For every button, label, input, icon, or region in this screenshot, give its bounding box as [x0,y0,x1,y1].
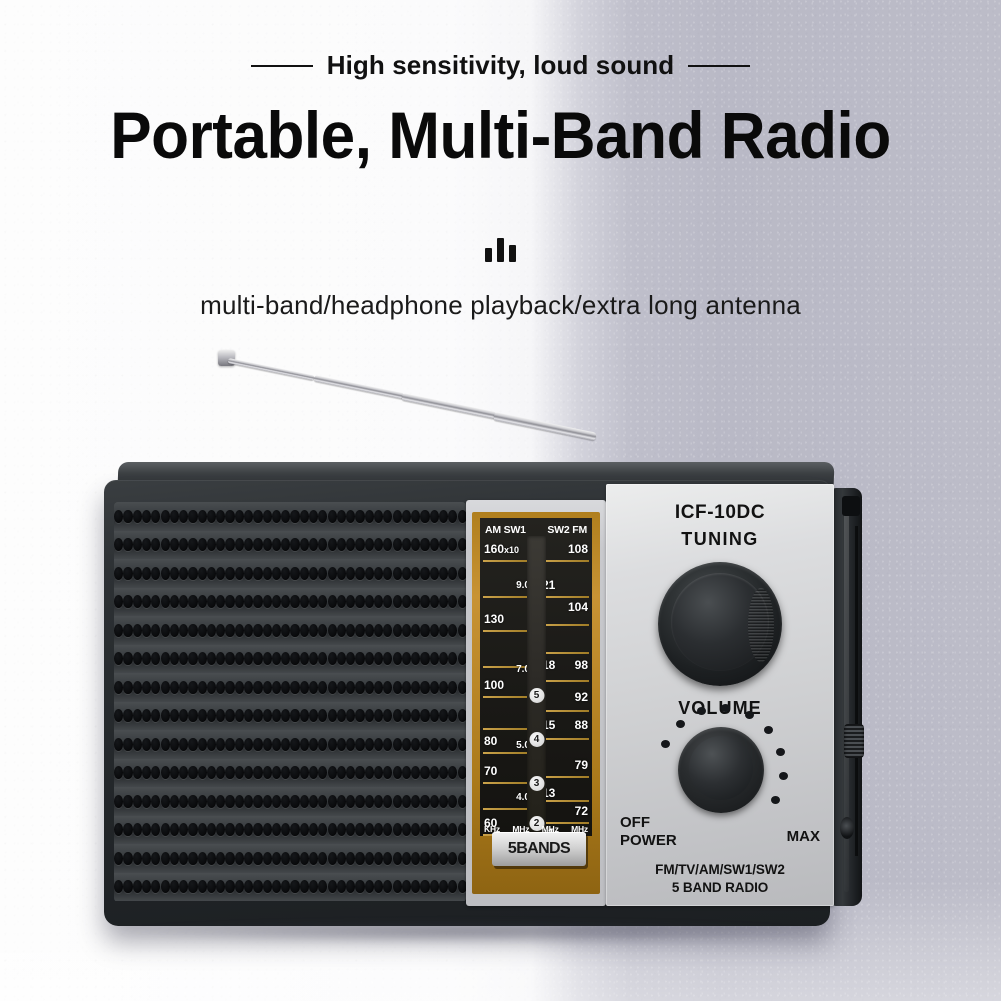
speaker-hole [161,681,170,694]
speaker-hole [244,681,253,694]
speaker-hole [300,880,309,893]
speaker-hole [290,738,299,751]
speaker-hole [253,595,262,608]
dial-pointer-track[interactable]: 5432 [527,536,546,832]
speaker-hole [263,823,272,836]
dial-tick [483,728,529,730]
speaker-hole [318,766,327,779]
speaker-hole [393,709,402,722]
drop-shadow [118,920,818,944]
speaker-hole [365,880,374,893]
headphone-jack[interactable] [840,817,854,839]
speaker-hole [114,681,123,694]
speaker-hole [309,567,318,580]
speaker-hole [402,510,411,523]
speaker-hole [198,852,207,865]
speaker-hole [133,766,142,779]
dial-tick [543,800,589,802]
control-panel: ICF-10DC TUNING VOLUME OFF POWER MAX FM/… [606,484,834,906]
band-switch-button[interactable]: 5BANDS [492,832,586,866]
speaker-hole [290,823,299,836]
speaker-hole [207,652,216,665]
speaker-hole [207,567,216,580]
speaker-hole [411,823,420,836]
speaker-hole [393,681,402,694]
speaker-hole [402,624,411,637]
speaker-hole [402,681,411,694]
speaker-hole [114,567,123,580]
speaker-hole [365,709,374,722]
dial-scale-left: 160x109.01307.0100805.0704.060533.2 [483,538,531,828]
speaker-hole [337,652,346,665]
speaker-hole [393,823,402,836]
speaker-hole [179,681,188,694]
speaker-hole [151,681,160,694]
speaker-hole [393,538,402,551]
speaker-hole [448,681,457,694]
dial-tick [543,624,589,626]
speaker-hole [458,567,467,580]
speaker-hole [216,510,225,523]
speaker-hole [263,624,272,637]
speaker-hole [393,652,402,665]
speaker-hole [207,595,216,608]
speaker-hole [290,681,299,694]
speaker-hole [225,652,234,665]
speaker-hole [272,510,281,523]
speaker-hole [420,852,429,865]
speaker-hole [290,595,299,608]
speaker-hole [439,595,448,608]
speaker-hole [300,852,309,865]
speaker-hole [383,538,392,551]
speaker-hole [114,738,123,751]
speaker-hole [346,709,355,722]
speaker-hole [198,538,207,551]
speaker-hole [448,652,457,665]
speaker-hole [253,624,262,637]
speaker-hole [235,624,244,637]
speaker-hole [439,823,448,836]
speaker-hole [374,709,383,722]
speaker-hole [244,624,253,637]
speaker-hole [225,852,234,865]
speaker-hole [253,652,262,665]
speaker-hole [188,681,197,694]
speaker-grille-row [114,816,466,845]
speaker-hole [179,709,188,722]
speaker-hole [272,652,281,665]
dial-bezel: AM SW1 SW2 FM 160x109.01307.0100805.0704… [466,500,606,906]
speaker-hole [244,795,253,808]
speaker-hole [151,624,160,637]
speaker-hole [151,795,160,808]
speaker-hole [328,880,337,893]
speaker-hole [179,823,188,836]
speaker-grille-row [114,873,466,902]
speaker-hole [244,652,253,665]
speaker-hole [309,766,318,779]
speaker-hole [430,852,439,865]
speaker-hole [374,538,383,551]
speaker-hole [170,652,179,665]
speaker-hole [216,538,225,551]
speaker-hole [123,510,132,523]
speaker-hole [458,595,467,608]
speaker-hole [290,709,299,722]
speaker-hole [253,738,262,751]
speaker-hole [188,538,197,551]
speaker-grille-row [114,702,466,731]
speaker-hole [290,880,299,893]
speaker-hole [420,567,429,580]
speaker-hole [188,766,197,779]
speaker-hole [207,709,216,722]
speaker-hole [439,766,448,779]
tuning-knob[interactable] [658,562,782,686]
speaker-hole [411,510,420,523]
speaker-hole [346,681,355,694]
speaker-hole [355,538,364,551]
speaker-hole [430,652,439,665]
speaker-hole [300,709,309,722]
speaker-hole [123,795,132,808]
speaker-hole [309,595,318,608]
speaker-hole [272,709,281,722]
speaker-hole [420,538,429,551]
speaker-grille-row [114,645,466,674]
speaker-hole [253,709,262,722]
speaker-hole [346,823,355,836]
dial-band-marker: 4 [529,732,544,747]
speaker-hole [411,538,420,551]
speaker-hole [179,795,188,808]
dial-number: 79 [575,758,588,772]
radio-device: AM SW1 SW2 FM 160x109.01307.0100805.0704… [104,462,844,930]
speaker-hole [402,823,411,836]
speaker-hole [207,510,216,523]
speaker-hole [290,766,299,779]
speaker-hole [216,880,225,893]
speaker-hole [244,852,253,865]
speaker-hole [337,595,346,608]
speaker-hole [374,880,383,893]
speaker-hole [161,538,170,551]
speaker-hole [393,624,402,637]
speaker-hole [225,567,234,580]
speaker-hole [318,795,327,808]
volume-knob[interactable] [678,727,764,813]
speaker-hole [179,652,188,665]
speaker-hole [244,823,253,836]
speaker-hole [448,738,457,751]
speaker-hole [244,595,253,608]
speaker-hole [346,766,355,779]
speaker-hole [263,567,272,580]
speaker-hole [188,823,197,836]
speaker-hole [318,709,327,722]
speaker-hole [365,823,374,836]
volume-tick [776,748,785,756]
speaker-hole [393,567,402,580]
speaker-hole [430,766,439,779]
speaker-hole [170,624,179,637]
speaker-hole [123,852,132,865]
speaker-hole [448,795,457,808]
speaker-hole [309,652,318,665]
speaker-hole [365,681,374,694]
speaker-hole [458,510,467,523]
speaker-hole [355,595,364,608]
speaker-hole [346,652,355,665]
speaker-hole [272,624,281,637]
speaker-hole [123,766,132,779]
speaker-hole [365,624,374,637]
speaker-hole [402,595,411,608]
speaker-hole [161,852,170,865]
speaker-hole [383,652,392,665]
speaker-hole [420,652,429,665]
speaker-hole [383,595,392,608]
speaker-hole [198,510,207,523]
dial-number: 72 [575,804,588,818]
speaker-hole [290,538,299,551]
speaker-hole [207,880,216,893]
speaker-hole [346,880,355,893]
speaker-hole [235,595,244,608]
speaker-hole [170,510,179,523]
dial-number: 100 [484,678,504,692]
speaker-hole [151,709,160,722]
speaker-hole [198,795,207,808]
speaker-hole [448,709,457,722]
speaker-hole [300,510,309,523]
speaker-hole [198,823,207,836]
speaker-hole [458,795,467,808]
speaker-hole [355,709,364,722]
speaker-hole [309,510,318,523]
speaker-hole [188,880,197,893]
eyebrow-text: High sensitivity, loud sound [327,50,675,81]
speaker-hole [309,852,318,865]
speaker-hole [309,624,318,637]
speaker-hole [235,709,244,722]
speaker-hole [318,652,327,665]
speaker-hole [355,567,364,580]
speaker-hole [430,567,439,580]
speaker-grille-row [114,616,466,645]
speaker-hole [188,738,197,751]
speaker-hole [448,880,457,893]
dial-tick [543,738,589,740]
speaker-hole [355,795,364,808]
speaker-hole [281,880,290,893]
speaker-hole [309,738,318,751]
volume-label: VOLUME [606,698,834,719]
speaker-hole [225,738,234,751]
speaker-hole [179,624,188,637]
speaker-hole [393,738,402,751]
speaker-hole [309,823,318,836]
speaker-hole [365,766,374,779]
speaker-hole [337,538,346,551]
speaker-hole [337,510,346,523]
speaker-hole [207,852,216,865]
dial-tick [543,560,589,562]
speaker-hole [402,709,411,722]
speaker-hole [151,738,160,751]
speaker-hole [383,709,392,722]
speaker-hole [439,510,448,523]
speaker-hole [281,567,290,580]
speaker-hole [170,567,179,580]
speaker-hole [272,852,281,865]
speaker-hole [188,624,197,637]
speaker-hole [188,510,197,523]
speaker-hole [207,795,216,808]
speaker-hole [263,766,272,779]
speaker-hole [133,823,142,836]
speaker-hole [337,766,346,779]
speaker-hole [123,595,132,608]
speaker-hole [263,681,272,694]
speaker-hole [235,880,244,893]
speaker-hole [337,738,346,751]
speaker-hole [318,595,327,608]
page-title: Portable, Multi-Band Radio [30,100,971,170]
speaker-hole [235,681,244,694]
speaker-hole [170,709,179,722]
speaker-grille-row [114,759,466,788]
speaker-hole [207,738,216,751]
speaker-hole [114,709,123,722]
dial-tick [543,710,589,712]
speaker-hole [114,852,123,865]
speaker-hole [355,852,364,865]
speaker-hole [337,852,346,865]
speaker-hole [318,538,327,551]
speaker-hole [402,852,411,865]
volume-tick [745,711,754,719]
speaker-hole [142,681,151,694]
speaker-hole [123,738,132,751]
speaker-hole [290,852,299,865]
speaker-hole [402,766,411,779]
speaker-hole [281,709,290,722]
speaker-hole [161,795,170,808]
speaker-hole [114,880,123,893]
speaker-hole [253,823,262,836]
speaker-hole [402,538,411,551]
eyebrow-row: High sensitivity, loud sound [0,50,1001,81]
dial-tick [483,630,529,632]
speaker-hole [253,681,262,694]
speaker-hole [355,766,364,779]
speaker-hole [402,880,411,893]
speaker-hole [272,538,281,551]
speaker-hole [263,652,272,665]
speaker-hole [365,567,374,580]
band-list-label: FM/TV/AM/SW1/SW2 [606,862,834,877]
speaker-hole [123,567,132,580]
speaker-hole [179,538,188,551]
antenna-socket [842,496,860,516]
speaker-hole [439,852,448,865]
speaker-hole [420,880,429,893]
speaker-hole [151,823,160,836]
band-count-label: 5 BAND RADIO [606,880,834,895]
dial-number: 92 [575,690,588,704]
speaker-hole [114,795,123,808]
speaker-hole [114,766,123,779]
speaker-hole [439,795,448,808]
speaker-hole [123,709,132,722]
speaker-grille-row [114,502,466,531]
speaker-hole [123,624,132,637]
speaker-hole [430,795,439,808]
speaker-hole [253,538,262,551]
speaker-hole [448,823,457,836]
speaker-grille-row [114,559,466,588]
speaker-hole [328,709,337,722]
speaker-hole [365,538,374,551]
speaker-hole [383,624,392,637]
band-selector-thumbwheel[interactable] [844,724,864,758]
speaker-hole [411,595,420,608]
speaker-hole [133,624,142,637]
dial-header-left: AM SW1 [485,524,526,536]
speaker-hole [170,681,179,694]
speaker-hole [300,652,309,665]
speaker-hole [337,681,346,694]
speaker-hole [458,738,467,751]
speaker-hole [170,595,179,608]
speaker-hole [133,795,142,808]
speaker-hole [337,567,346,580]
speaker-hole [411,624,420,637]
speaker-hole [114,510,123,523]
speaker-hole [225,538,234,551]
speaker-hole [300,681,309,694]
power-label: POWER [620,832,677,849]
speaker-hole [272,567,281,580]
speaker-hole [281,624,290,637]
speaker-hole [346,738,355,751]
speaker-hole [263,538,272,551]
speaker-hole [402,652,411,665]
speaker-hole [383,681,392,694]
speaker-hole [430,880,439,893]
speaker-hole [142,595,151,608]
speaker-hole [272,595,281,608]
dial-tick [543,776,589,778]
speaker-hole [161,595,170,608]
eyebrow-rule-left [251,65,313,67]
product-banner: High sensitivity, loud sound Portable, M… [0,0,1001,1001]
speaker-hole [383,880,392,893]
speaker-hole [346,852,355,865]
speaker-hole [439,880,448,893]
speaker-hole [383,766,392,779]
speaker-hole [263,510,272,523]
speaker-hole [151,652,160,665]
speaker-hole [420,709,429,722]
speaker-hole [337,880,346,893]
speaker-hole [411,852,420,865]
speaker-hole [188,567,197,580]
speaker-hole [216,795,225,808]
speaker-hole [411,567,420,580]
